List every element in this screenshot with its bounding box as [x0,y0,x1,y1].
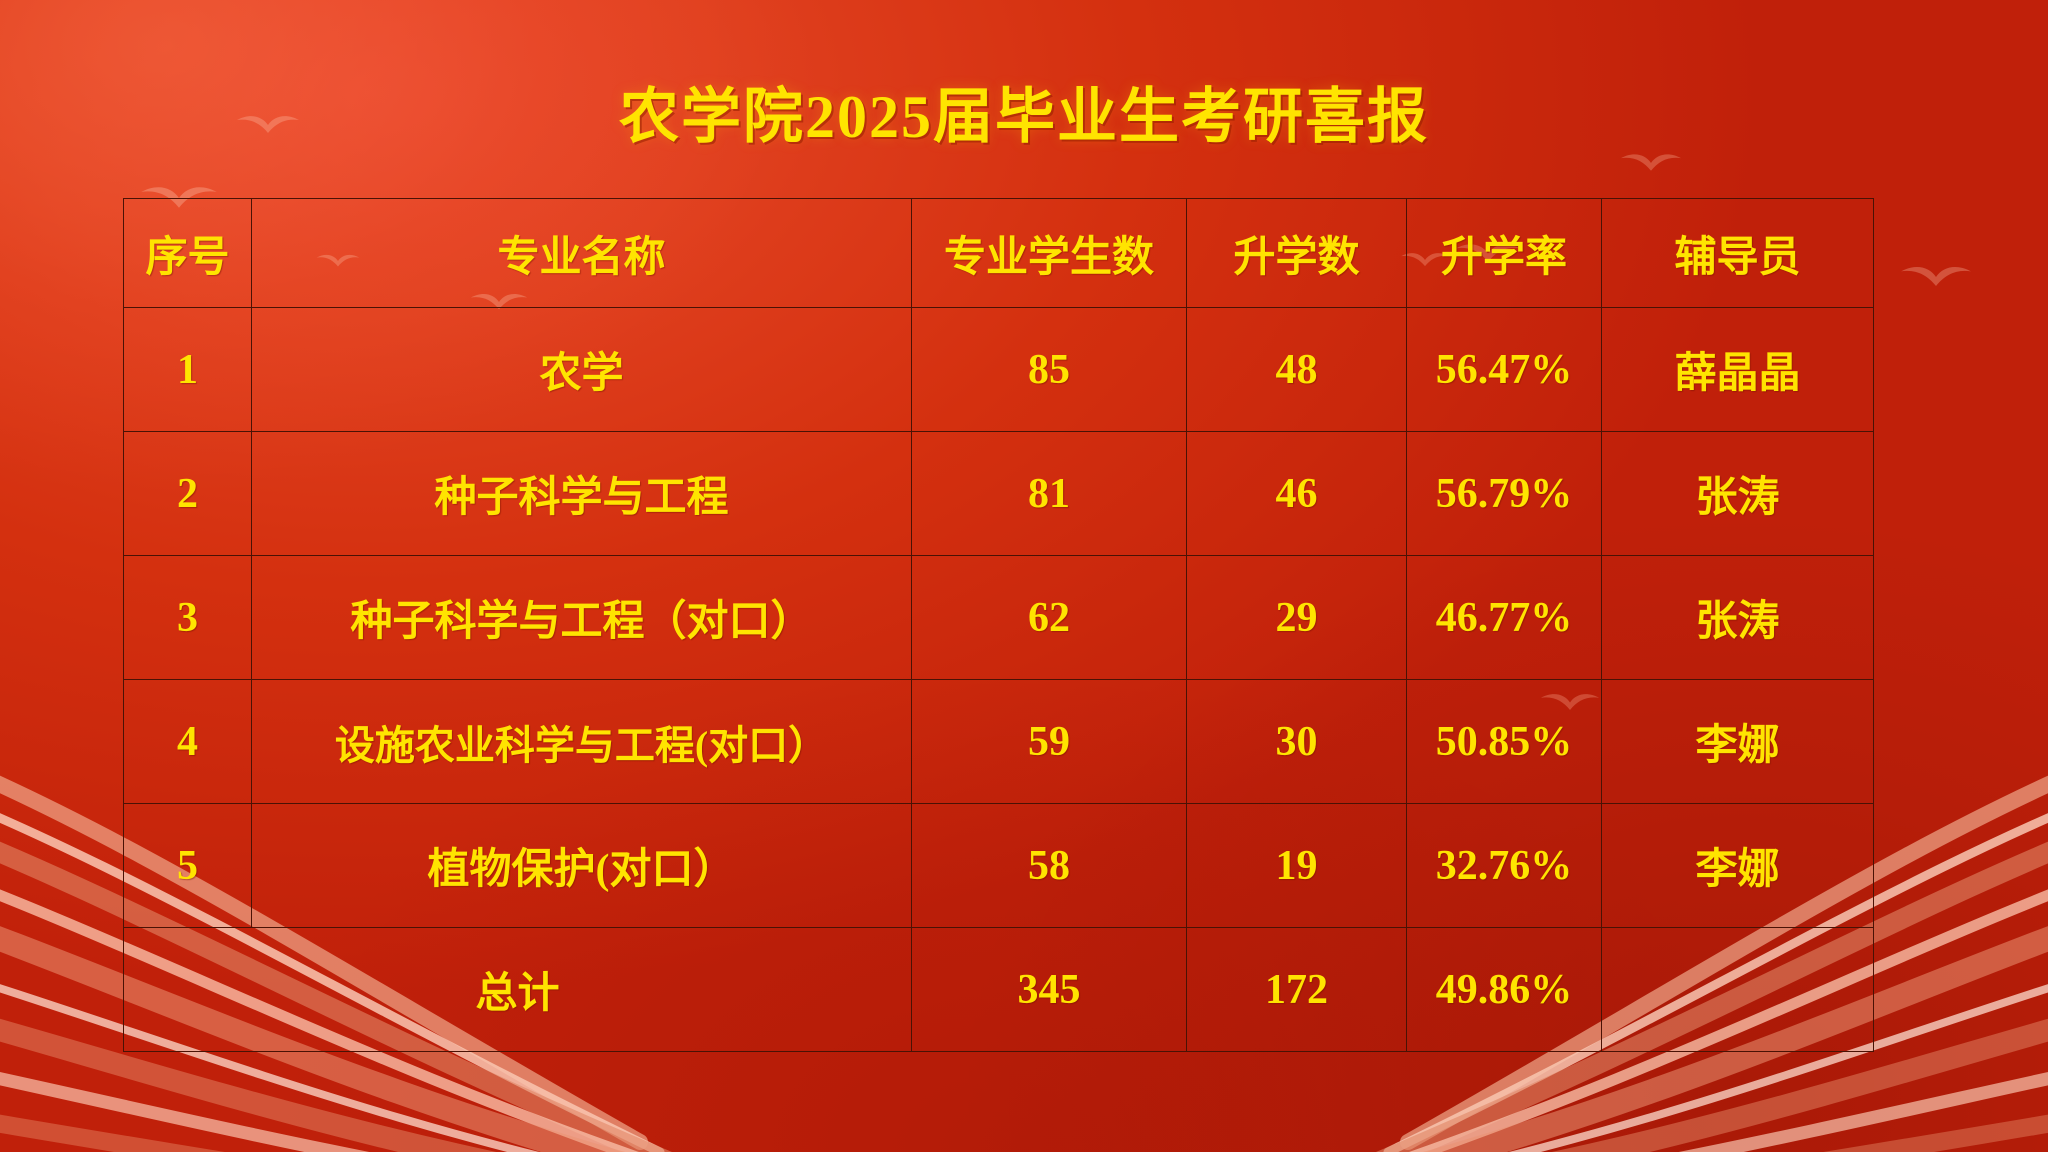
report-table-container: 序号 专业名称 专业学生数 升学数 升学率 辅导员 1 农学 85 48 56.… [123,198,1873,1052]
cell-counselor: 张涛 [1602,556,1874,680]
cell-index: 4 [124,680,252,804]
cell-students: 59 [912,680,1187,804]
cell-students: 58 [912,804,1187,928]
poster-title-container: 农学院2025届毕业生考研喜报 [0,68,2048,155]
cell-total-label: 总计 [124,928,912,1052]
column-header-rate: 升学率 [1407,199,1602,308]
cell-total-counselor [1602,928,1874,1052]
bird-icon [1900,262,1972,292]
cell-rate: 32.76% [1407,804,1602,928]
table-row: 1 农学 85 48 56.47% 薛晶晶 [124,308,1874,432]
cell-rate: 46.77% [1407,556,1602,680]
cell-rate: 56.79% [1407,432,1602,556]
cell-students: 85 [912,308,1187,432]
table-row: 2 种子科学与工程 81 46 56.79% 张涛 [124,432,1874,556]
cell-index: 5 [124,804,252,928]
column-header-students: 专业学生数 [912,199,1187,308]
cell-counselor: 李娜 [1602,680,1874,804]
table-total-row: 总计 345 172 49.86% [124,928,1874,1052]
cell-major: 种子科学与工程 [252,432,912,556]
cell-counselor: 薛晶晶 [1602,308,1874,432]
cell-admitted: 46 [1187,432,1407,556]
cell-rate: 50.85% [1407,680,1602,804]
column-header-counselor: 辅导员 [1602,199,1874,308]
cell-major: 种子科学与工程（对口） [252,556,912,680]
cell-index: 3 [124,556,252,680]
cell-major: 设施农业科学与工程(对口） [252,680,912,804]
table-row: 4 设施农业科学与工程(对口） 59 30 50.85% 李娜 [124,680,1874,804]
cell-counselor: 张涛 [1602,432,1874,556]
table-header-row: 序号 专业名称 专业学生数 升学数 升学率 辅导员 [124,199,1874,308]
cell-students: 62 [912,556,1187,680]
cell-admitted: 29 [1187,556,1407,680]
report-table: 序号 专业名称 专业学生数 升学数 升学率 辅导员 1 农学 85 48 56.… [123,198,1874,1052]
cell-admitted: 19 [1187,804,1407,928]
table-row: 5 植物保护(对口） 58 19 32.76% 李娜 [124,804,1874,928]
cell-admitted: 30 [1187,680,1407,804]
cell-counselor: 李娜 [1602,804,1874,928]
cell-students: 81 [912,432,1187,556]
column-header-admitted: 升学数 [1187,199,1407,308]
cell-rate: 56.47% [1407,308,1602,432]
cell-index: 2 [124,432,252,556]
cell-total-rate: 49.86% [1407,928,1602,1052]
table-row: 3 种子科学与工程（对口） 62 29 46.77% 张涛 [124,556,1874,680]
column-header-major: 专业名称 [252,199,912,308]
cell-major: 植物保护(对口） [252,804,912,928]
column-header-index: 序号 [124,199,252,308]
page-title: 农学院2025届毕业生考研喜报 [619,68,1429,155]
cell-total-admitted: 172 [1187,928,1407,1052]
poster-canvas: 农学院2025届毕业生考研喜报 序号 专业名称 专业学生数 升学数 升学率 辅导… [0,0,2048,1152]
cell-index: 1 [124,308,252,432]
cell-major: 农学 [252,308,912,432]
cell-admitted: 48 [1187,308,1407,432]
cell-total-students: 345 [912,928,1187,1052]
